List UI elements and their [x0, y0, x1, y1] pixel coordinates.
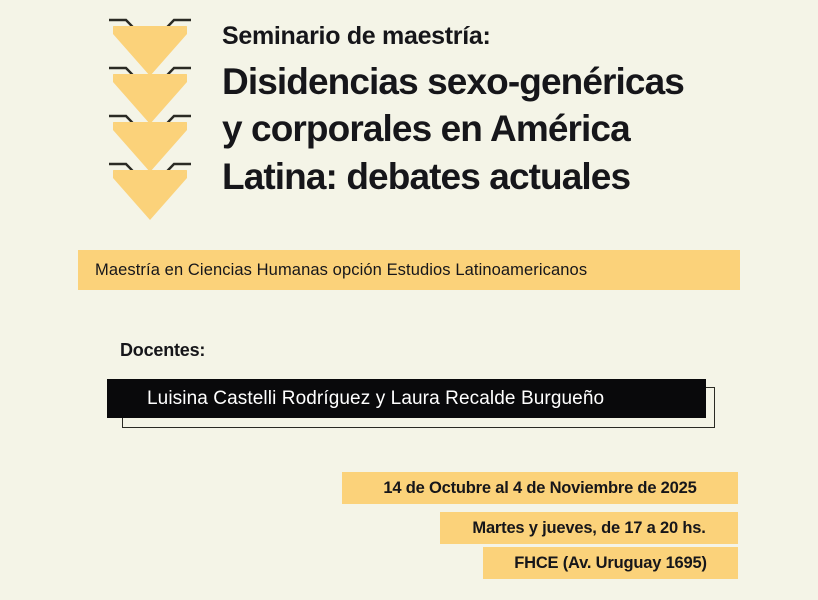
page-title: Seminario de maestría: Disidencias sexo-…	[222, 24, 782, 200]
title-line-1: Disidencias sexo-genéricas	[222, 58, 782, 105]
teachers-box: Luisina Castelli Rodríguez y Laura Recal…	[107, 379, 706, 418]
detail-band-dates: 14 de Octubre al 4 de Noviembre de 2025	[342, 472, 738, 504]
program-band-label: Maestría en Ciencias Humanas opción Estu…	[95, 261, 587, 280]
detail-band-location-label: FHCE (Av. Uruguay 1695)	[514, 554, 707, 573]
teachers-block: Luisina Castelli Rodríguez y Laura Recal…	[107, 379, 722, 434]
title-line-2: y corporales en América	[222, 105, 782, 152]
chevron-stack-decoration	[108, 14, 192, 219]
detail-band-schedule-label: Martes y jueves, de 17 a 20 hs.	[472, 519, 705, 538]
detail-band-location: FHCE (Av. Uruguay 1695)	[483, 547, 738, 579]
title-line-3: Latina: debates actuales	[222, 153, 782, 200]
teachers-label: Docentes:	[120, 340, 205, 361]
poster-canvas: Seminario de maestría: Disidencias sexo-…	[0, 0, 818, 600]
chevron-down-icon	[108, 158, 192, 220]
title-kicker: Seminario de maestría:	[222, 24, 782, 49]
detail-band-dates-label: 14 de Octubre al 4 de Noviembre de 2025	[383, 479, 696, 498]
teachers-names: Luisina Castelli Rodríguez y Laura Recal…	[147, 388, 604, 410]
detail-band-schedule: Martes y jueves, de 17 a 20 hs.	[440, 512, 738, 544]
program-band: Maestría en Ciencias Humanas opción Estu…	[78, 250, 740, 290]
